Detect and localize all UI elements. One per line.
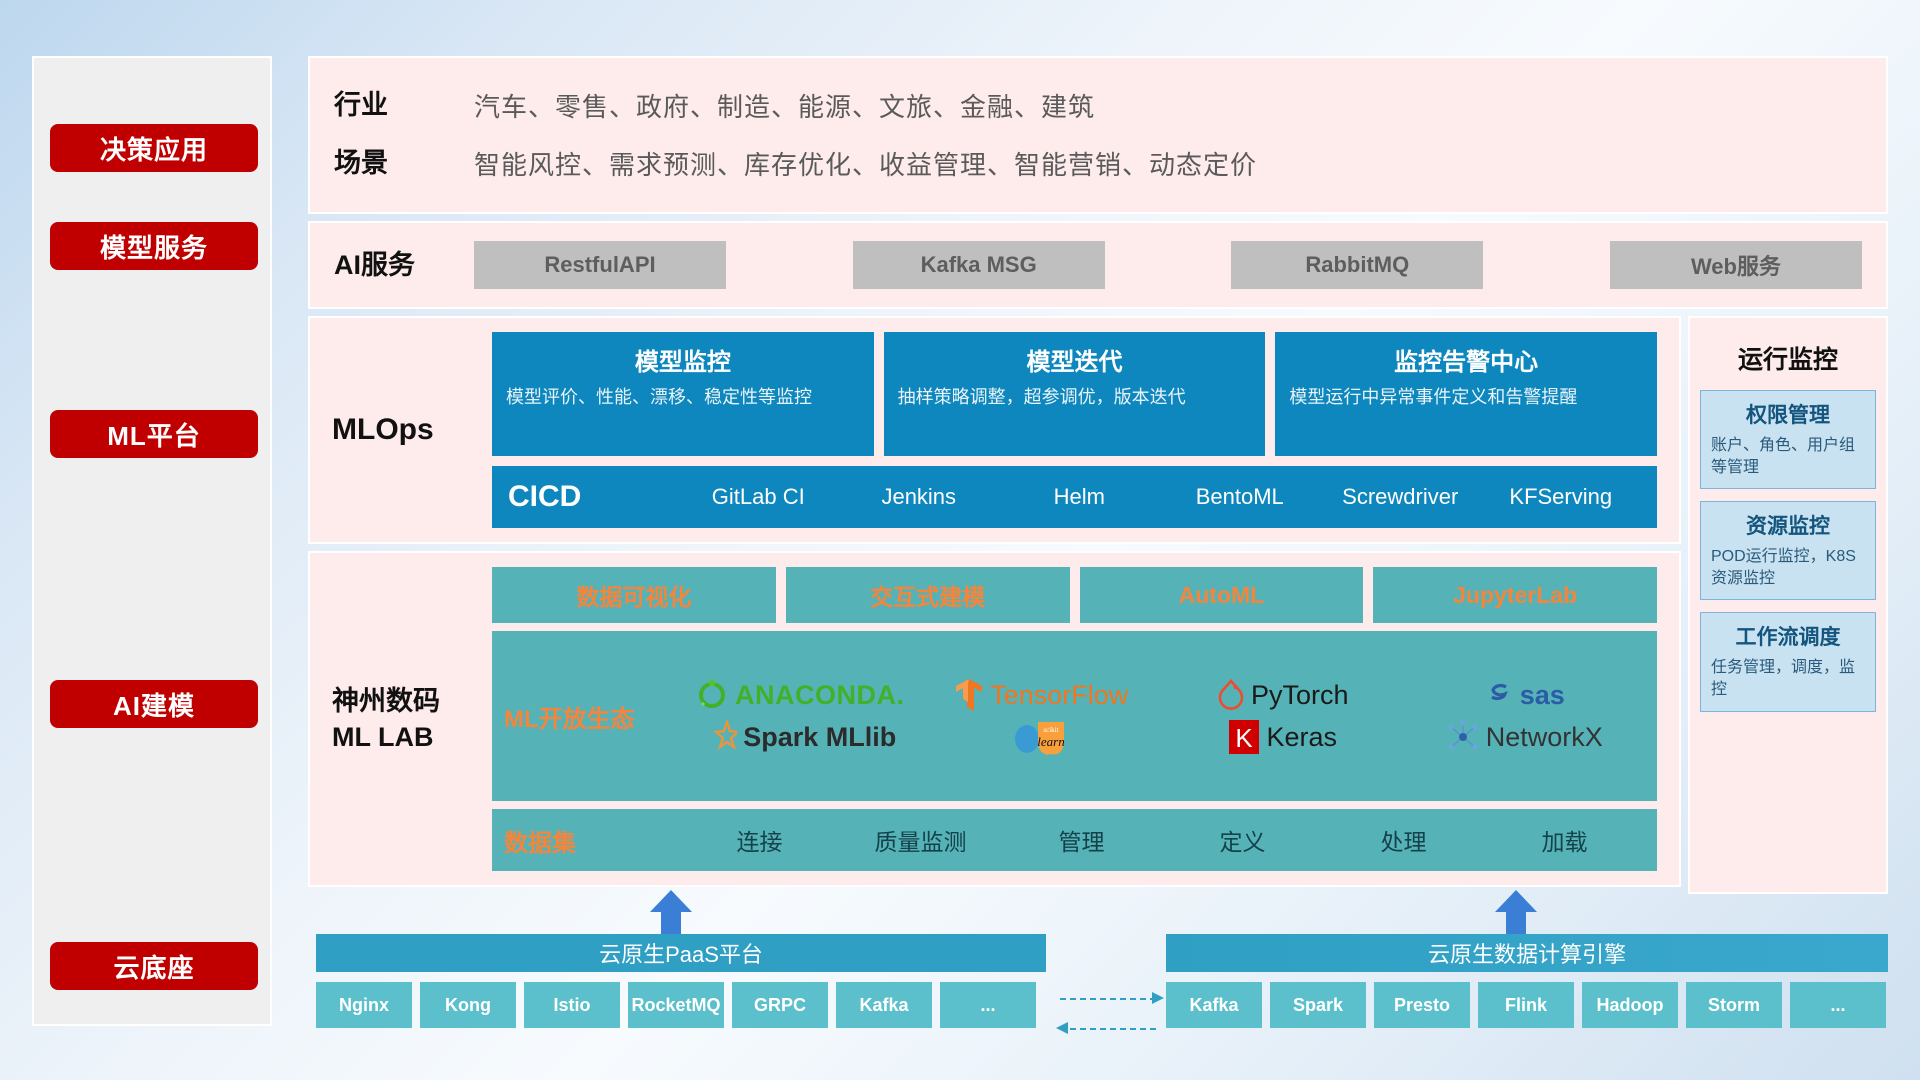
monitor-card-workflow[interactable]: 工作流调度 任务管理，调度，监控 <box>1700 612 1876 711</box>
value-scenario: 智能风控、需求预测、库存优化、收益管理、智能营销、动态定价 <box>474 134 1862 192</box>
cicd-item-helm[interactable]: Helm <box>999 486 1160 508</box>
tile-engine-kafka[interactable]: Kafka <box>1166 982 1262 1028</box>
ecosystem-logo-grid: ANACONDA. TensorFlow <box>679 676 1645 756</box>
tile-istio[interactable]: Istio <box>524 982 620 1028</box>
monitor-card-desc: 账户、角色、用户组等管理 <box>1711 435 1865 478</box>
keras-logo: K Keras <box>1228 718 1337 756</box>
mlops-card-desc: 抽样策略调整，超参调优，版本迭代 <box>898 385 1252 409</box>
tile-engine-spark[interactable]: Spark <box>1270 982 1366 1028</box>
platform-region: MLOps 模型监控 模型评价、性能、漂移、稳定性等监控 模型迭代 抽样策略调整… <box>308 316 1888 894</box>
sas-icon <box>1484 680 1514 710</box>
cicd-item-kfserving[interactable]: KFServing <box>1481 486 1642 508</box>
connector-right-arrow <box>1060 998 1156 1000</box>
networkx-icon <box>1446 720 1480 754</box>
dataset-bar: 数据集 连接 质量监测 管理 定义 处理 加载 <box>492 809 1657 871</box>
main-column: 行业 场景 汽车、零售、政府、制造、能源、文旅、金融、建筑 智能风控、需求预测、… <box>308 56 1888 894</box>
label-ml-lab-line2: ML LAB <box>332 719 492 755</box>
connector-left-arrow <box>1060 1028 1156 1030</box>
label-mlops: MLOps <box>332 410 492 451</box>
paas-tile-list: Nginx Kong Istio RocketMQ GRPC Kafka ... <box>316 982 1036 1028</box>
rail-item-ml-platform[interactable]: ML平台 <box>50 410 258 458</box>
scikit-learn-icon: scikit learn <box>1012 718 1070 756</box>
tile-kafka[interactable]: Kafka <box>836 982 932 1028</box>
keras-icon: K <box>1228 718 1260 756</box>
band-industry-labels: 行业 场景 <box>334 76 474 192</box>
tile-engine-flink[interactable]: Flink <box>1478 982 1574 1028</box>
mlops-card-list: 模型监控 模型评价、性能、漂移、稳定性等监控 模型迭代 抽样策略调整，超参调优，… <box>492 332 1657 456</box>
band-industry-scenario: 行业 场景 汽车、零售、政府、制造、能源、文旅、金融、建筑 智能风控、需求预测、… <box>308 56 1888 214</box>
pytorch-logo: PyTorch <box>1217 679 1349 711</box>
monitoring-title: 运行监控 <box>1700 340 1876 376</box>
band-ml-lab: 神州数码 ML LAB 数据可视化 交互式建模 AutoML JupyterLa… <box>308 551 1681 887</box>
tab-interactive-modeling[interactable]: 交互式建模 <box>786 567 1070 623</box>
cloud-base-region: 云原生PaaS平台 云原生数据计算引擎 Nginx Kong Istio Roc… <box>308 888 1888 1028</box>
mlops-card-title: 监控告警中心 <box>1289 342 1643 377</box>
ml-lab-stack: 数据可视化 交互式建模 AutoML JupyterLab ML开放生态 <box>492 567 1657 871</box>
anaconda-label: ANACONDA. <box>735 680 905 711</box>
dataset-item-list: 连接 质量监测 管理 定义 处理 加载 <box>679 823 1645 857</box>
anaconda-logo: ANACONDA. <box>695 678 905 712</box>
tile-engine-presto[interactable]: Presto <box>1374 982 1470 1028</box>
sas-logo: sas <box>1484 680 1565 711</box>
mlops-card-model-monitoring[interactable]: 模型监控 模型评价、性能、漂移、稳定性等监控 <box>492 332 874 456</box>
cicd-item-bentoml[interactable]: BentoML <box>1160 486 1321 508</box>
connector-arrowhead-right-icon <box>1152 992 1166 1006</box>
diagram-canvas: 决策应用 模型服务 ML平台 AI建模 云底座 行业 场景 汽车、零售、政府、制… <box>0 0 1920 1080</box>
scikit-learn-logo: scikit learn <box>1012 718 1070 756</box>
tile-grpc[interactable]: GRPC <box>732 982 828 1028</box>
mlops-card-title: 模型迭代 <box>898 342 1252 377</box>
tile-engine-storm[interactable]: Storm <box>1686 982 1782 1028</box>
layer-rail: 决策应用 模型服务 ML平台 AI建模 云底座 <box>32 56 272 1026</box>
tile-paas-more[interactable]: ... <box>940 982 1036 1028</box>
tab-automl[interactable]: AutoML <box>1080 567 1364 623</box>
value-industry: 汽车、零售、政府、制造、能源、文旅、金融、建筑 <box>474 76 1862 134</box>
band-mlops: MLOps 模型监控 模型评价、性能、漂移、稳定性等监控 模型迭代 抽样策略调整… <box>308 316 1681 544</box>
mlops-card-desc: 模型运行中异常事件定义和告警提醒 <box>1289 385 1643 409</box>
mlops-card-title: 模型监控 <box>506 342 860 377</box>
rail-item-decision-app[interactable]: 决策应用 <box>50 124 258 172</box>
anaconda-icon <box>695 678 729 712</box>
band-industry-values: 汽车、零售、政府、制造、能源、文旅、金融、建筑 智能风控、需求预测、库存优化、收… <box>474 76 1862 192</box>
arrow-up-engine-icon <box>1493 890 1539 934</box>
monitor-card-resource[interactable]: 资源监控 POD运行监控，K8S资源监控 <box>1700 501 1876 600</box>
monitor-card-title: 权限管理 <box>1711 399 1865 429</box>
label-industry: 行业 <box>334 76 474 134</box>
tab-jupyterlab[interactable]: JupyterLab <box>1373 567 1657 623</box>
spark-mllib-logo: Spark MLlib <box>703 720 896 754</box>
label-scenario: 场景 <box>334 134 474 192</box>
ml-lab-tab-list: 数据可视化 交互式建模 AutoML JupyterLab <box>492 567 1657 623</box>
tab-data-visualization[interactable]: 数据可视化 <box>492 567 776 623</box>
monitoring-sidebar: 运行监控 权限管理 账户、角色、用户组等管理 资源监控 POD运行监控，K8S资… <box>1688 316 1888 894</box>
band-ai-service: AI服务 RestfulAPI Kafka MSG RabbitMQ Web服务 <box>308 221 1888 309</box>
mlops-stack: 模型监控 模型评价、性能、漂移、稳定性等监控 模型迭代 抽样策略调整，超参调优，… <box>492 332 1657 528</box>
tile-rocketmq[interactable]: RocketMQ <box>628 982 724 1028</box>
networkx-label: NetworkX <box>1486 722 1603 753</box>
cicd-item-list: GitLab CI Jenkins Helm BentoML Screwdriv… <box>678 486 1641 508</box>
tensorflow-logo: TensorFlow <box>954 677 1128 713</box>
sas-label: sas <box>1520 680 1565 711</box>
rail-item-model-service[interactable]: 模型服务 <box>50 222 258 270</box>
spark-mllib-label: Spark MLlib <box>743 722 896 753</box>
spark-star-icon <box>703 720 737 754</box>
cicd-item-jenkins[interactable]: Jenkins <box>839 486 1000 508</box>
label-ml-open-ecosystem: ML开放生态 <box>504 699 679 734</box>
paas-bar-title[interactable]: 云原生PaaS平台 <box>316 934 1046 972</box>
monitor-card-desc: POD运行监控，K8S资源监控 <box>1711 546 1865 589</box>
mlops-card-alert-center[interactable]: 监控告警中心 模型运行中异常事件定义和告警提醒 <box>1275 332 1657 456</box>
cicd-bar: CICD GitLab CI Jenkins Helm BentoML Scre… <box>492 466 1657 528</box>
chip-kafka-msg[interactable]: Kafka MSG <box>853 241 1105 289</box>
pytorch-icon <box>1217 679 1245 711</box>
cicd-item-gitlab-ci[interactable]: GitLab CI <box>678 486 839 508</box>
tile-kong[interactable]: Kong <box>420 982 516 1028</box>
engine-bar-title[interactable]: 云原生数据计算引擎 <box>1166 934 1888 972</box>
svg-text:scikit: scikit <box>1044 726 1059 734</box>
svg-text:learn: learn <box>1038 734 1065 749</box>
tile-nginx[interactable]: Nginx <box>316 982 412 1028</box>
monitor-card-permission[interactable]: 权限管理 账户、角色、用户组等管理 <box>1700 390 1876 489</box>
tensorflow-label: TensorFlow <box>990 680 1128 711</box>
cicd-title: CICD <box>508 480 678 514</box>
mlops-card-model-iteration[interactable]: 模型迭代 抽样策略调整，超参调优，版本迭代 <box>884 332 1266 456</box>
monitor-card-title: 资源监控 <box>1711 510 1865 540</box>
label-ai-service: AI服务 <box>334 247 474 283</box>
arrow-up-paas-icon <box>648 890 694 934</box>
engine-tile-list: Kafka Spark Presto Flink Hadoop Storm ..… <box>1166 982 1886 1028</box>
dataset-item-define[interactable]: 定义 <box>1162 823 1323 857</box>
svg-text:K: K <box>1236 723 1254 753</box>
connector-arrowhead-left-icon <box>1056 1022 1070 1036</box>
ml-open-ecosystem: ML开放生态 ANACONDA. <box>492 631 1657 801</box>
rail-item-ai-modeling[interactable]: AI建模 <box>50 680 258 728</box>
tile-engine-hadoop[interactable]: Hadoop <box>1582 982 1678 1028</box>
dataset-item-manage[interactable]: 管理 <box>1001 823 1162 857</box>
chip-rabbitmq[interactable]: RabbitMQ <box>1231 241 1483 289</box>
tile-engine-more[interactable]: ... <box>1790 982 1886 1028</box>
label-dataset: 数据集 <box>504 823 679 858</box>
pytorch-label: PyTorch <box>1251 680 1349 711</box>
dataset-item-process[interactable]: 处理 <box>1323 823 1484 857</box>
tensorflow-icon <box>954 677 984 713</box>
chip-restful-api[interactable]: RestfulAPI <box>474 241 726 289</box>
ai-service-chip-list: RestfulAPI Kafka MSG RabbitMQ Web服务 <box>474 241 1862 289</box>
keras-label: Keras <box>1266 722 1337 753</box>
label-ml-lab-line1: 神州数码 <box>332 683 492 719</box>
mlops-card-desc: 模型评价、性能、漂移、稳定性等监控 <box>506 385 860 409</box>
cicd-item-screwdriver[interactable]: Screwdriver <box>1320 486 1481 508</box>
monitor-card-title: 工作流调度 <box>1711 621 1865 651</box>
chip-web-service[interactable]: Web服务 <box>1610 241 1862 289</box>
dataset-item-load[interactable]: 加载 <box>1484 823 1645 857</box>
networkx-logo: NetworkX <box>1446 720 1603 754</box>
label-ml-lab: 神州数码 ML LAB <box>332 683 492 756</box>
rail-item-cloud-base[interactable]: 云底座 <box>50 942 258 990</box>
dataset-item-quality[interactable]: 质量监测 <box>840 823 1001 857</box>
monitor-card-desc: 任务管理，调度，监控 <box>1711 657 1865 700</box>
dataset-item-connect[interactable]: 连接 <box>679 823 840 857</box>
